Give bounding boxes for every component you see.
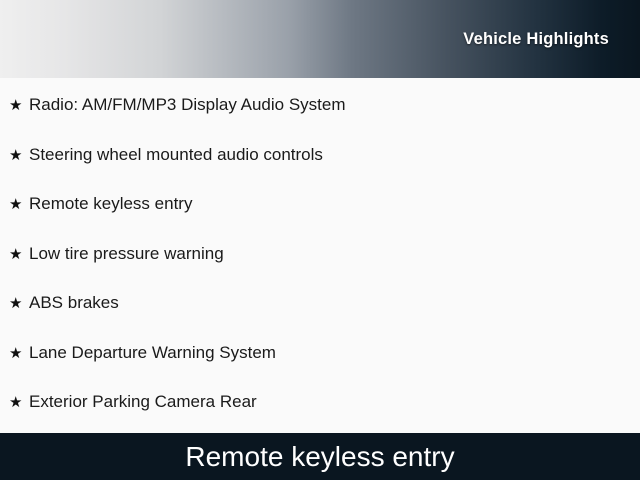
list-item-label: Radio: AM/FM/MP3 Display Audio System	[29, 96, 346, 113]
slide-header: Vehicle Highlights	[0, 0, 640, 78]
star-icon: ★	[9, 197, 29, 212]
star-icon: ★	[9, 296, 29, 311]
star-icon: ★	[9, 98, 29, 113]
list-item: ★ Low tire pressure warning	[0, 245, 640, 295]
footer-caption: Remote keyless entry	[185, 443, 454, 471]
vehicle-highlights-slide: Vehicle Highlights ★ Radio: AM/FM/MP3 Di…	[0, 0, 640, 480]
list-item: ★ Exterior Parking Camera Rear	[0, 393, 640, 433]
list-item-label: Exterior Parking Camera Rear	[29, 393, 257, 410]
star-icon: ★	[9, 395, 29, 410]
vehicle-highlights-list: ★ Radio: AM/FM/MP3 Display Audio System …	[0, 78, 640, 433]
page-title: Vehicle Highlights	[463, 30, 609, 49]
star-icon: ★	[9, 346, 29, 361]
list-item: ★ Lane Departure Warning System	[0, 344, 640, 394]
list-item: ★ Steering wheel mounted audio controls	[0, 146, 640, 196]
list-item-label: Lane Departure Warning System	[29, 344, 276, 361]
list-item: ★ Radio: AM/FM/MP3 Display Audio System	[0, 96, 640, 146]
list-item: ★ ABS brakes	[0, 294, 640, 344]
star-icon: ★	[9, 148, 29, 163]
list-item-label: ABS brakes	[29, 294, 119, 311]
highlights-content: ★ Radio: AM/FM/MP3 Display Audio System …	[0, 78, 640, 433]
star-icon: ★	[9, 247, 29, 262]
list-item: ★ Remote keyless entry	[0, 195, 640, 245]
slide-footer: Remote keyless entry	[0, 433, 640, 480]
list-item-label: Steering wheel mounted audio controls	[29, 146, 323, 163]
list-item-label: Remote keyless entry	[29, 195, 192, 212]
list-item-label: Low tire pressure warning	[29, 245, 224, 262]
